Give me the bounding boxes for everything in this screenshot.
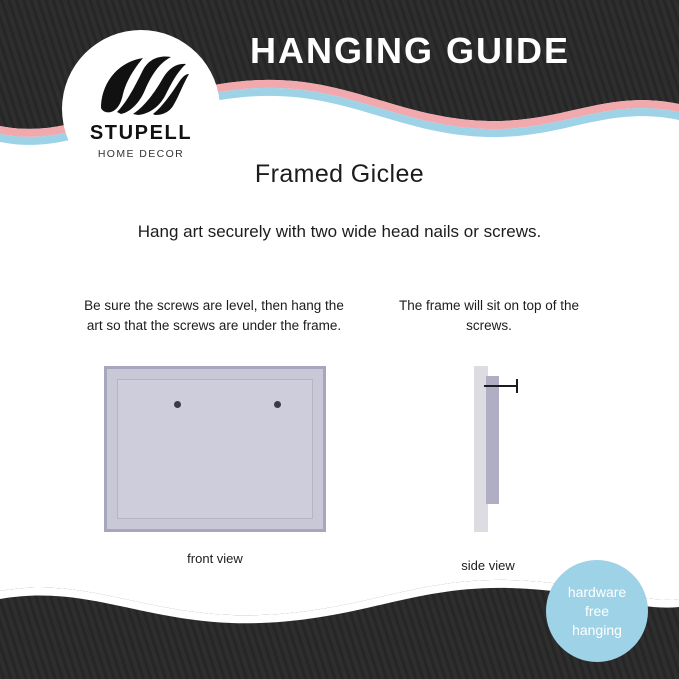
page-title: HANGING GUIDE [250, 30, 570, 72]
side-view-caption: The frame will sit on top of the screws. [378, 296, 600, 336]
badge-line-1: hardware [568, 583, 626, 602]
framed-art-side-view-icon [466, 366, 518, 532]
screw-dot-left-icon [174, 401, 181, 408]
side-view-screw-head-icon [516, 379, 518, 393]
screw-dot-right-icon [274, 401, 281, 408]
side-view-frame [486, 376, 499, 504]
framed-art-front-view-icon [104, 366, 326, 532]
front-view-caption: Be sure the screws are level, then hang … [84, 296, 344, 336]
badge-line-3: hanging [572, 621, 622, 640]
instruction-line: Hang art securely with two wide head nai… [0, 222, 679, 242]
front-view-inner-panel [117, 379, 313, 519]
logo-wordmark: STUPELL [62, 122, 220, 145]
badge-line-2: free [585, 602, 609, 621]
side-view-screw-shaft-icon [484, 385, 518, 387]
logo: STUPELL HOME DECOR [62, 30, 220, 188]
logo-subtitle: HOME DECOR [62, 148, 220, 160]
hardware-free-badge: hardware free hanging [546, 560, 648, 662]
stylized-s-swoosh-icon [93, 54, 189, 116]
hanging-guide-page: HANGING GUIDE STUPELL HOME DECOR Framed … [0, 0, 679, 679]
